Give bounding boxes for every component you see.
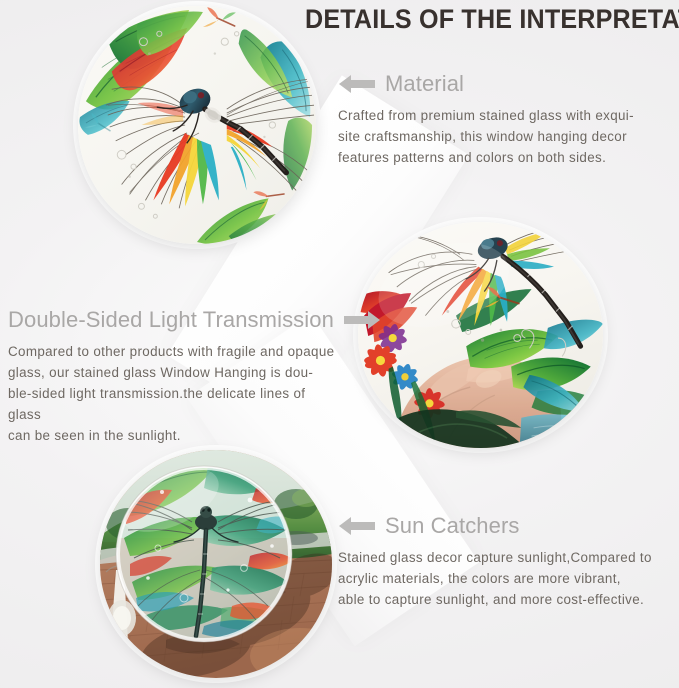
page-title: DETAILS OF THE INTERPRETATION [305,2,679,36]
section-material-body: Crafted from premium stained glass with … [338,105,674,168]
section-double-heading: Double-Sided Light Transmission [8,306,340,334]
section-material: Material Crafted from premium stained gl… [338,70,674,168]
photo-hand-holding-disc [358,222,603,448]
body-line: able to capture sunlight, and more cost-… [338,589,676,610]
infographic-canvas: DETAILS OF THE INTERPRETATION [0,0,679,688]
body-line: site craftsmanship, this window hanging … [338,126,674,147]
arrow-left-icon [338,74,376,94]
body-line: features patterns and colors on both sid… [338,147,674,168]
body-line: glass, our stained glass Window Hanging … [8,362,340,383]
body-line: acrylic materials, the colors are more v… [338,568,676,589]
section-double-title: Double-Sided Light Transmission [8,306,334,334]
section-sun-catchers: Sun Catchers Stained glass decor capture… [338,512,676,610]
body-line: Stained glass decor capture sunlight,Com… [338,547,676,568]
section-double-body: Compared to other products with fragile … [8,341,340,446]
section-sun-title: Sun Catchers [385,512,520,540]
section-sun-body: Stained glass decor capture sunlight,Com… [338,547,676,610]
body-line: Compared to other products with fragile … [8,341,340,362]
section-sun-heading: Sun Catchers [338,512,676,540]
arrow-right-icon [343,310,381,330]
section-material-title: Material [385,70,464,98]
arrow-left-icon [338,516,376,536]
body-line: can be seen in the sunlight. [8,425,340,446]
photo-dragonfly-closeup [78,6,316,244]
photo-outdoor-hanging [100,450,332,678]
body-line: ble-sided light transmission.the delicat… [8,383,340,425]
section-material-heading: Material [338,70,674,98]
body-line: Crafted from premium stained glass with … [338,105,674,126]
section-double-sided-light-transmission: Double-Sided Light Transmission Compared… [8,306,340,446]
